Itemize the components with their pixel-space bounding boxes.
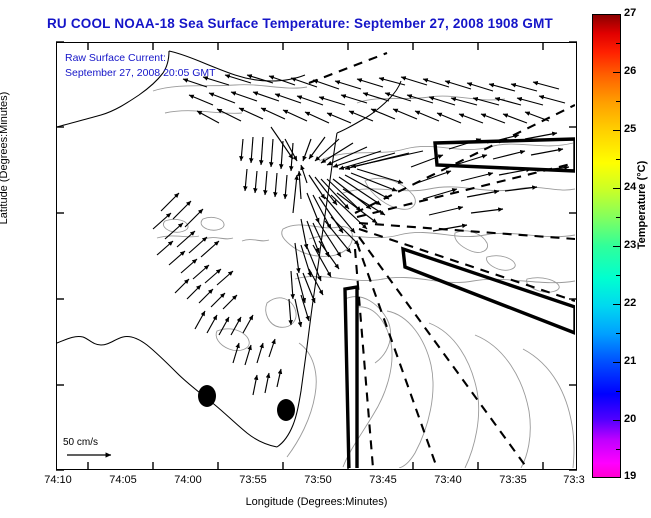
colorbar-tick-label: 27 bbox=[624, 7, 636, 19]
colorbar-tick bbox=[613, 72, 621, 73]
colorbar-tick bbox=[613, 14, 621, 15]
x-tick-label: 74:00 bbox=[158, 474, 218, 486]
colorbar-tick-label: 23 bbox=[624, 239, 636, 251]
colorbar-tick bbox=[613, 304, 621, 305]
colorbar-minor-tick bbox=[616, 159, 621, 160]
x-tick-label: 73:55 bbox=[223, 474, 283, 486]
map-graphics bbox=[57, 43, 575, 468]
colorbar-tick-label: 19 bbox=[624, 470, 636, 482]
station-marker bbox=[277, 399, 295, 421]
colorbar-tick-label: 20 bbox=[624, 413, 636, 425]
map-plot-area[interactable]: Raw Surface Current: September 27, 2008 … bbox=[56, 42, 577, 470]
colorbar-minor-tick bbox=[616, 449, 621, 450]
station-markers bbox=[198, 385, 295, 421]
colorbar-tick-label: 24 bbox=[624, 181, 636, 193]
annotation-line-1: Raw Surface Current: bbox=[65, 52, 166, 64]
colorbar-minor-tick bbox=[616, 391, 621, 392]
colorbar-minor-tick bbox=[616, 217, 621, 218]
scale-bar-label: 50 cm/s bbox=[63, 437, 98, 448]
x-tick-label: 74:10 bbox=[28, 474, 88, 486]
colorbar-tick-label: 26 bbox=[624, 65, 636, 77]
x-tick-label: 73:35 bbox=[483, 474, 543, 486]
colorbar-tick-label: 25 bbox=[624, 123, 636, 135]
colorbar-tick bbox=[613, 362, 621, 363]
colorbar-tick bbox=[613, 246, 621, 247]
screenshot-root: RU COOL NOAA-18 Sea Surface Temperature:… bbox=[0, 0, 651, 518]
coastline bbox=[57, 51, 401, 447]
x-tick-label: 74:05 bbox=[93, 474, 153, 486]
colorbar-minor-tick bbox=[616, 101, 621, 102]
colorbar-tick-label: 21 bbox=[624, 355, 636, 367]
colorbar-tick bbox=[613, 477, 621, 478]
colorbar-tick-label: 22 bbox=[624, 297, 636, 309]
map-canvas: Raw Surface Current: September 27, 2008 … bbox=[57, 43, 576, 469]
x-axis-label: Longitude (Degrees:Minutes) bbox=[56, 496, 577, 508]
station-marker bbox=[198, 385, 216, 407]
y-axis-label: Latitude (Degrees:Minutes) bbox=[0, 0, 10, 150]
colorbar-minor-tick bbox=[616, 43, 621, 44]
x-tick-label: 73:40 bbox=[418, 474, 478, 486]
annotation-line-2: September 27, 2008 20:05 GMT bbox=[65, 67, 216, 79]
colorbar-tick bbox=[613, 130, 621, 131]
colorbar-tick bbox=[613, 188, 621, 189]
colorbar-minor-tick bbox=[616, 333, 621, 334]
colorbar-tick bbox=[613, 420, 621, 421]
colorbar-minor-tick bbox=[616, 275, 621, 276]
colorbar-axis-label: Temperature (°C) bbox=[636, 85, 648, 205]
x-tick-label: 73:50 bbox=[288, 474, 348, 486]
page-title: RU COOL NOAA-18 Sea Surface Temperature:… bbox=[0, 16, 600, 31]
x-tick-label: 73:45 bbox=[353, 474, 413, 486]
current-vector-field bbox=[153, 75, 569, 395]
